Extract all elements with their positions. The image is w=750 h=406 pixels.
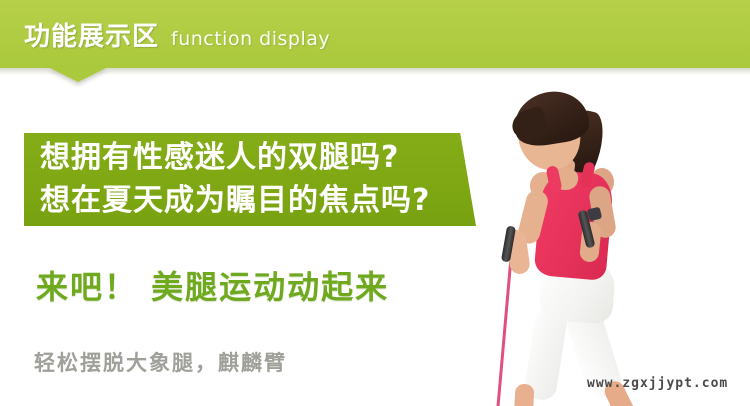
fitness-model-photo [452,62,750,406]
header-banner: 功能展示区 function display [0,0,750,68]
headline-text-group: 想拥有性感迷人的双腿吗? 想在夏天成为瞩目的焦点吗? [40,136,470,222]
promo-banner-page: 功能展示区 function display [0,0,750,406]
page-title: 功能展示区 [24,16,159,53]
subheadline: 来吧！ 美腿运动动起来 [36,262,389,308]
header-title-group: 功能展示区 function display [24,16,330,53]
tagline: 轻松摆脱大象腿，麒麟臂 [34,347,287,377]
rear-shin [512,384,534,406]
website-watermark: www.zgxjjypt.com [587,376,728,391]
page-subtitle: function display [171,28,330,50]
headline-line-1: 想拥有性感迷人的双腿吗? [40,136,470,179]
headline-line-2: 想在夏天成为瞩目的焦点吗? [40,179,470,222]
resistance-band-left [493,252,513,406]
header-pointer-triangle [48,67,108,82]
